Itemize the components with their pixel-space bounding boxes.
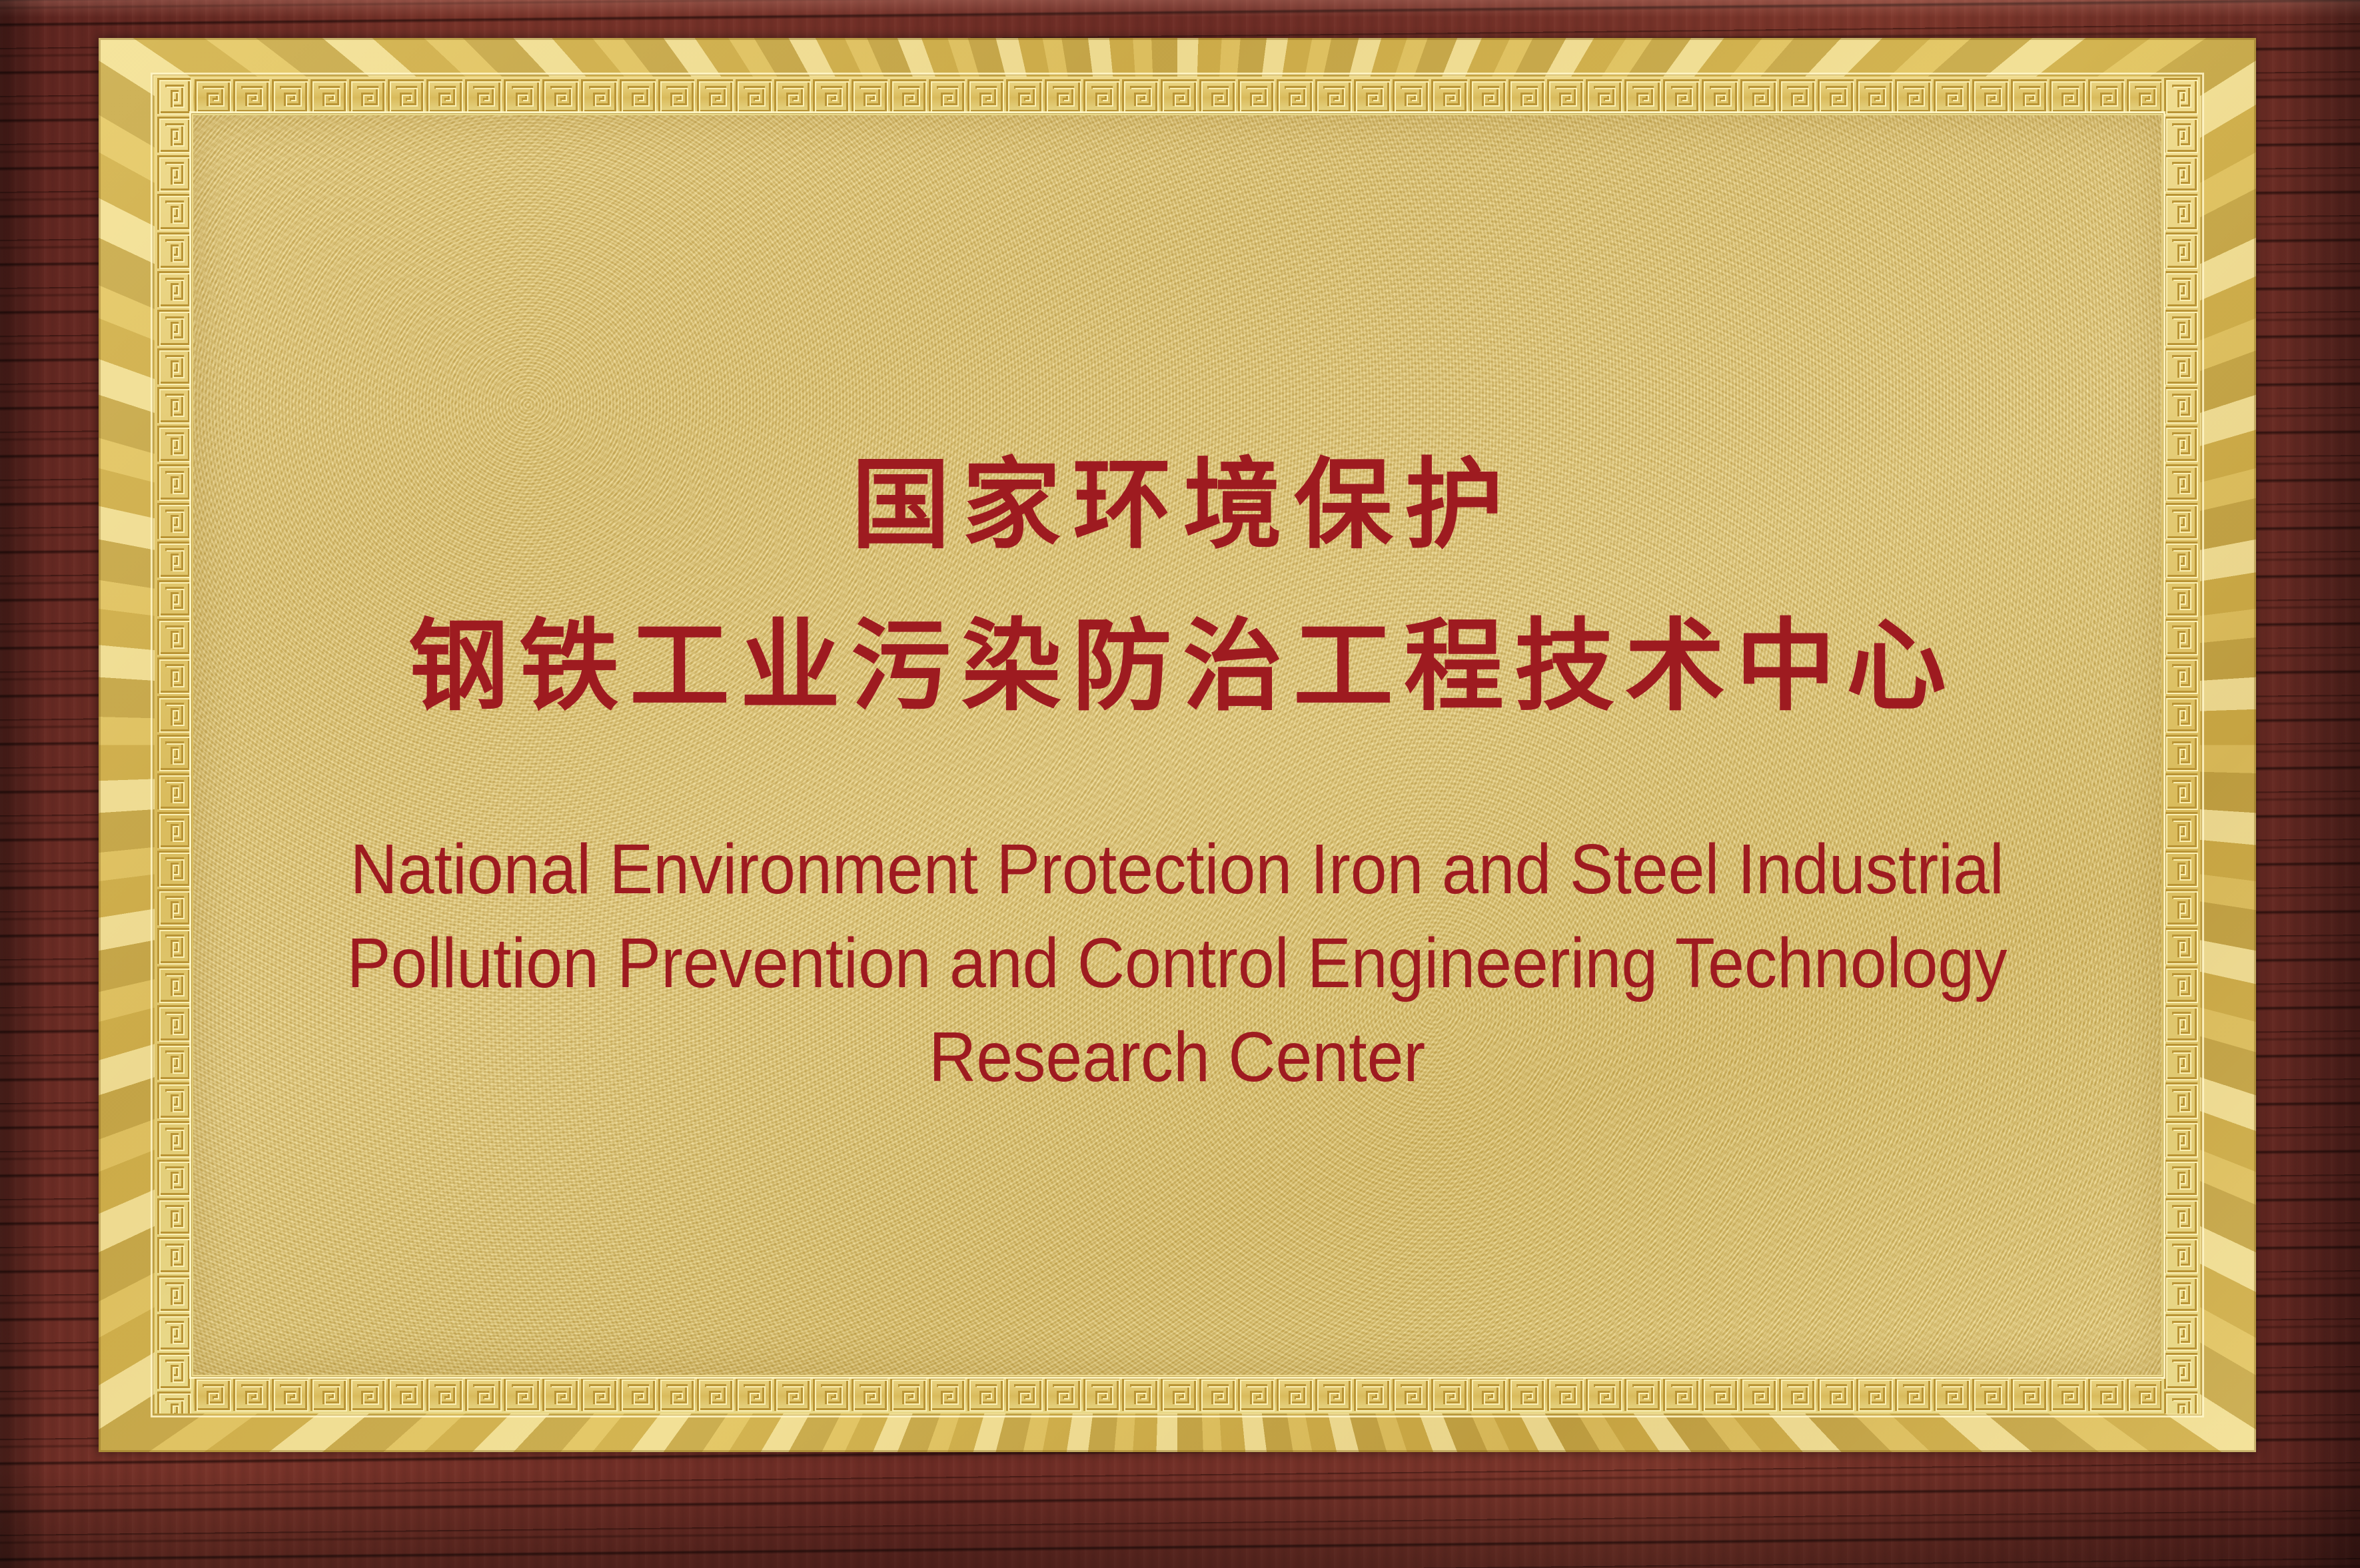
english-title-block: National Environment Protection Iron and… bbox=[347, 823, 2008, 1104]
chinese-title-line-1: 国家环境保护 bbox=[840, 456, 1515, 555]
meander-right bbox=[2161, 77, 2200, 1413]
meander-top bbox=[155, 77, 2200, 115]
award-plaque: 国家环境保护 钢铁工业污染防治工程技术中心 National Environme… bbox=[0, 0, 2360, 1568]
english-title-line-3: Research Center bbox=[347, 1010, 2008, 1104]
wood-frame-left-shadow bbox=[0, 0, 47, 1568]
english-title-line-1: National Environment Protection Iron and… bbox=[347, 823, 2008, 917]
english-title-line-2: Pollution Prevention and Control Enginee… bbox=[347, 917, 2008, 1010]
meander-bottom bbox=[155, 1375, 2200, 1413]
chinese-title-line-2: 钢铁工业污染防治工程技术中心 bbox=[398, 616, 1957, 716]
plaque-text-block: 国家环境保护 钢铁工业污染防治工程技术中心 National Environme… bbox=[193, 115, 2161, 1375]
gold-plate: 国家环境保护 钢铁工业污染防治工程技术中心 National Environme… bbox=[99, 38, 2256, 1452]
wood-frame-right-shadow bbox=[2280, 0, 2360, 1568]
wood-frame-bottom-shadow bbox=[0, 1468, 2360, 1568]
wood-frame-top-highlight bbox=[0, 0, 2360, 17]
meander-left bbox=[155, 77, 193, 1413]
